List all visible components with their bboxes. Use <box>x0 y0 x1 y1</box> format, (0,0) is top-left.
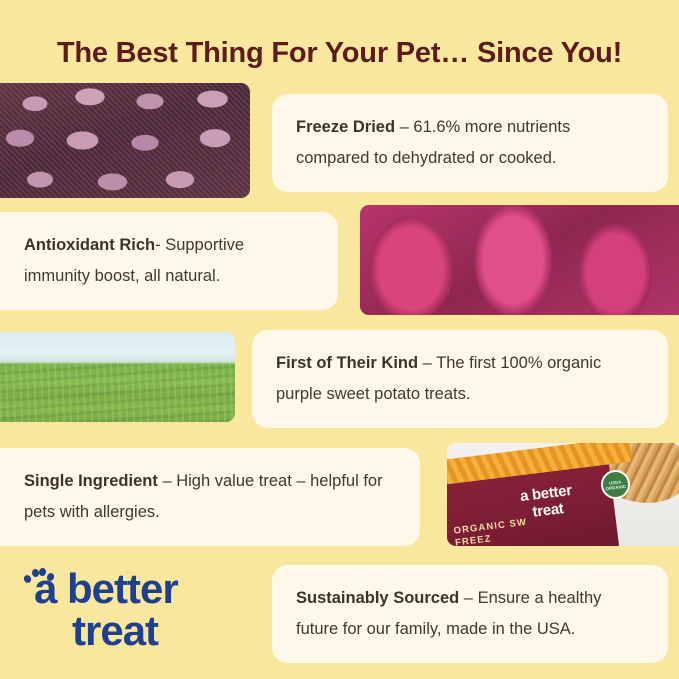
infographic-page: The Best Thing For Your Pet… Since You! … <box>0 0 679 679</box>
feature-card-first-of-their-kind: First of Their Kind – The first 100% org… <box>252 330 668 428</box>
page-title: The Best Thing For Your Pet… Since You! <box>0 37 679 70</box>
feature-separator-antioxidant-rich: - <box>155 236 165 254</box>
feature-card-single-ingredient: Single Ingredient – High value treat – h… <box>0 448 420 546</box>
feature-separator-single-ingredient: – <box>158 472 176 490</box>
brand-name-line1: a better <box>34 566 178 612</box>
feature-label-first-of-their-kind: First of Their Kind <box>276 354 418 372</box>
feature-label-sustainably-sourced: Sustainably Sourced <box>296 589 459 607</box>
feature-separator-freeze-dried: – <box>395 118 413 136</box>
brand-name-line2: treat <box>72 608 158 654</box>
photo-product-pouch: USDA ORGANIC a better treat ORGANIC SW F… <box>447 443 679 546</box>
feature-label-antioxidant-rich: Antioxidant Rich <box>24 236 155 254</box>
photo-purple-sweet-potatoes <box>360 205 679 315</box>
feature-text-freeze-dried: Freeze Dried – 61.6% more nutrients comp… <box>296 112 644 174</box>
feature-card-freeze-dried: Freeze Dried – 61.6% more nutrients comp… <box>272 94 668 192</box>
feature-card-antioxidant-rich: Antioxidant Rich- Supportive immunity bo… <box>0 212 338 310</box>
feature-text-single-ingredient: Single Ingredient – High value treat – h… <box>24 466 396 528</box>
photo-freeze-dried-chunks <box>0 83 250 198</box>
feature-separator-first-of-their-kind: – <box>418 354 436 372</box>
feature-label-freeze-dried: Freeze Dried <box>296 118 395 136</box>
feature-text-first-of-their-kind: First of Their Kind – The first 100% org… <box>276 348 644 410</box>
feature-separator-sustainably-sourced: – <box>459 589 477 607</box>
feature-label-single-ingredient: Single Ingredient <box>24 472 158 490</box>
feature-text-sustainably-sourced: Sustainably Sourced – Ensure a healthy f… <box>296 583 644 645</box>
feature-card-sustainably-sourced: Sustainably Sourced – Ensure a healthy f… <box>272 565 668 663</box>
photo-farm-field <box>0 332 235 422</box>
feature-text-antioxidant-rich: Antioxidant Rich- Supportive immunity bo… <box>24 230 314 292</box>
